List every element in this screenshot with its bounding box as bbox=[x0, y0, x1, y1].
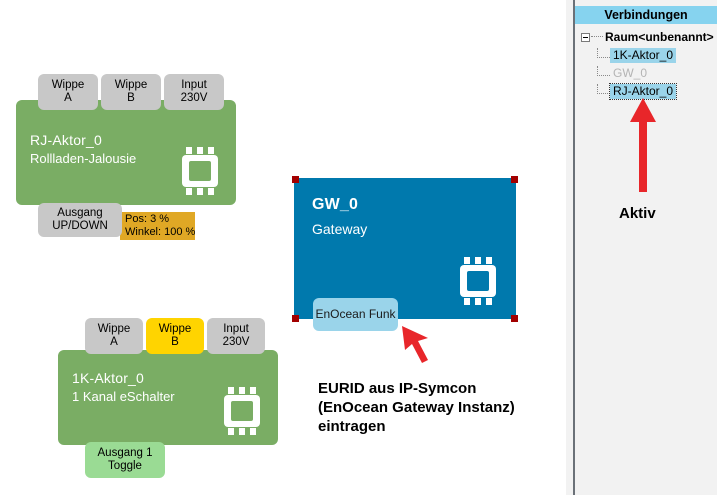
port-enocean-funk[interactable]: EnOcean Funk bbox=[313, 298, 398, 331]
device-title: RJ-Aktor_0 bbox=[30, 132, 102, 148]
port-label-line1: Ausgang bbox=[57, 207, 102, 220]
collapse-icon[interactable] bbox=[581, 33, 590, 42]
chip-icon bbox=[222, 387, 264, 435]
selection-handle-tr[interactable] bbox=[511, 176, 518, 183]
tree-root-label: Raum<unbenannt> bbox=[605, 30, 714, 44]
port-label-line2: A bbox=[64, 92, 72, 105]
device-subtitle: 1 Kanal eSchalter bbox=[72, 389, 175, 404]
tree-item-label: 1K-Aktor_0 bbox=[610, 48, 676, 63]
device-block-1k-aktor[interactable]: 1K-Aktor_0 1 Kanal eSchalter bbox=[58, 350, 278, 445]
port-label-line1: Wippe bbox=[98, 323, 131, 336]
port-wippe-b[interactable]: Wippe B bbox=[146, 318, 204, 354]
port-label-line2: Toggle bbox=[108, 460, 142, 473]
port-ausgang-updown[interactable]: Ausgang UP/DOWN bbox=[38, 203, 122, 237]
port-wippe-a[interactable]: Wippe A bbox=[38, 74, 98, 110]
port-label-line2: A bbox=[110, 336, 118, 349]
tree-item-label: GW_0 bbox=[610, 66, 650, 81]
tree-connector bbox=[591, 36, 603, 38]
annotation-arrow-aktiv bbox=[625, 98, 661, 197]
port-label-line1: Wippe bbox=[159, 323, 192, 336]
device-title: 1K-Aktor_0 bbox=[72, 370, 144, 386]
selection-handle-tl[interactable] bbox=[292, 176, 299, 183]
port-input-230v[interactable]: Input 230V bbox=[164, 74, 224, 110]
annotation-arrow-enocean bbox=[398, 322, 458, 369]
panel-header-verbindungen: Verbindungen bbox=[575, 6, 717, 24]
tree-connector bbox=[597, 66, 610, 76]
device-subtitle: Gateway bbox=[312, 221, 367, 237]
device-title: GW_0 bbox=[312, 196, 358, 214]
port-label-line1: Ausgang 1 bbox=[98, 447, 153, 460]
selection-handle-br[interactable] bbox=[511, 315, 518, 322]
port-ausgang-1-toggle[interactable]: Ausgang 1 Toggle bbox=[85, 442, 165, 478]
chip-icon bbox=[458, 257, 500, 305]
tree-item-1k-aktor[interactable]: 1K-Aktor_0 bbox=[575, 46, 717, 64]
status-badge-position: Pos: 3 % Winkel: 100 % bbox=[120, 212, 195, 240]
tree-root-row[interactable]: Raum<unbenannt> bbox=[575, 28, 717, 46]
port-label-line1: Input bbox=[181, 79, 207, 92]
annotation-gateway-note: EURID aus IP-Symcon (EnOcean Gateway Ins… bbox=[318, 379, 515, 436]
port-label-line2: B bbox=[127, 92, 135, 105]
tree-connector bbox=[597, 84, 610, 94]
port-wippe-a[interactable]: Wippe A bbox=[85, 318, 143, 354]
status-line1: Pos: 3 % bbox=[125, 213, 169, 226]
tree-connector bbox=[597, 48, 610, 58]
port-label-line2: 230V bbox=[223, 336, 250, 349]
port-label-line1: Wippe bbox=[115, 79, 148, 92]
port-label-line2: UP/DOWN bbox=[52, 220, 108, 233]
port-label-line2: 230V bbox=[181, 92, 208, 105]
device-block-rj-aktor[interactable]: RJ-Aktor_0 Rollladen-Jalousie bbox=[16, 100, 236, 205]
port-wippe-b[interactable]: Wippe B bbox=[101, 74, 161, 110]
port-input-230v[interactable]: Input 230V bbox=[207, 318, 265, 354]
port-label-line1: Wippe bbox=[52, 79, 85, 92]
tree-item-label: RJ-Aktor_0 bbox=[610, 84, 676, 99]
annotation-aktiv-label: Aktiv bbox=[619, 205, 656, 222]
diagram-canvas: RJ-Aktor_0 Rollladen-Jalousie Wippe A Wi… bbox=[0, 0, 717, 495]
selection-handle-bl[interactable] bbox=[292, 315, 299, 322]
tree-item-gw[interactable]: GW_0 bbox=[575, 64, 717, 82]
device-subtitle: Rollladen-Jalousie bbox=[30, 151, 136, 166]
chip-icon bbox=[180, 147, 222, 195]
port-label-line1: EnOcean Funk bbox=[315, 308, 395, 321]
port-label-line1: Input bbox=[223, 323, 249, 336]
status-line2: Winkel: 100 % bbox=[125, 226, 195, 239]
port-label-line2: B bbox=[171, 336, 179, 349]
connections-tree: Raum<unbenannt> 1K-Aktor_0 GW_0 RJ-Aktor… bbox=[575, 28, 717, 100]
